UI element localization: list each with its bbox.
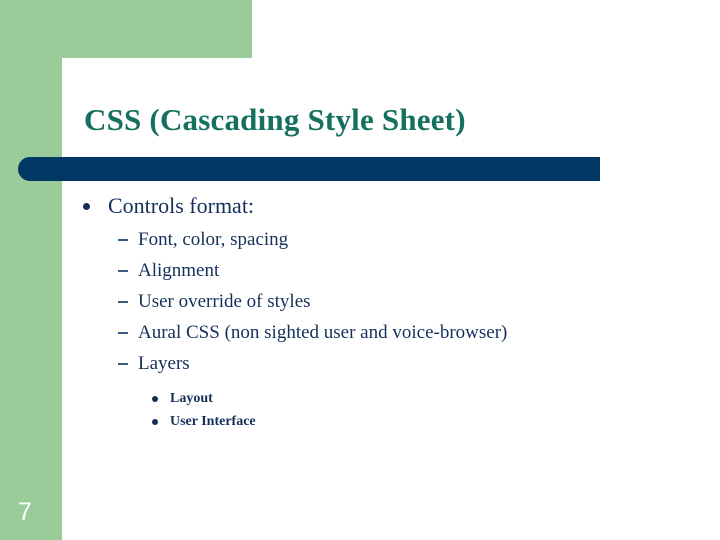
list-item-label: Layers — [138, 353, 190, 374]
list-item-label: User Interface — [170, 414, 256, 429]
dash-bullet-icon — [118, 239, 128, 241]
presentation-slide: CSS (Cascading Style Sheet) Controls for… — [0, 0, 720, 540]
list-item-label: Controls format: — [108, 193, 254, 218]
list-item-label: Font, color, spacing — [138, 229, 288, 250]
dash-bullet-icon — [118, 301, 128, 303]
disc-bullet-icon — [152, 419, 158, 425]
page-number: 7 — [18, 498, 32, 526]
list-item: Layout — [0, 389, 720, 408]
list-item-label: Aural CSS (non sighted user and voice-br… — [138, 322, 507, 343]
list-item: Layers — [0, 352, 720, 376]
dash-bullet-icon — [118, 332, 128, 334]
list-item-label: Layout — [170, 391, 213, 406]
disc-bullet-icon — [152, 396, 158, 402]
dash-bullet-icon — [118, 270, 128, 272]
disc-bullet-icon — [83, 203, 90, 210]
list-item: Alignment — [0, 259, 720, 283]
list-item-label: User override of styles — [138, 291, 311, 312]
list-item: User override of styles — [0, 290, 720, 314]
list-item: Aural CSS (non sighted user and voice-br… — [0, 321, 720, 345]
list-item: Controls format: — [0, 192, 720, 220]
dash-bullet-icon — [118, 363, 128, 365]
page-title: CSS (Cascading Style Sheet) — [84, 101, 684, 139]
list-item: Font, color, spacing — [0, 228, 720, 252]
list-item-label: Alignment — [138, 260, 219, 281]
title-underline-bar — [18, 157, 600, 181]
slide-body: Controls format: Font, color, spacing Al… — [0, 192, 720, 435]
list-item: User Interface — [0, 412, 720, 431]
